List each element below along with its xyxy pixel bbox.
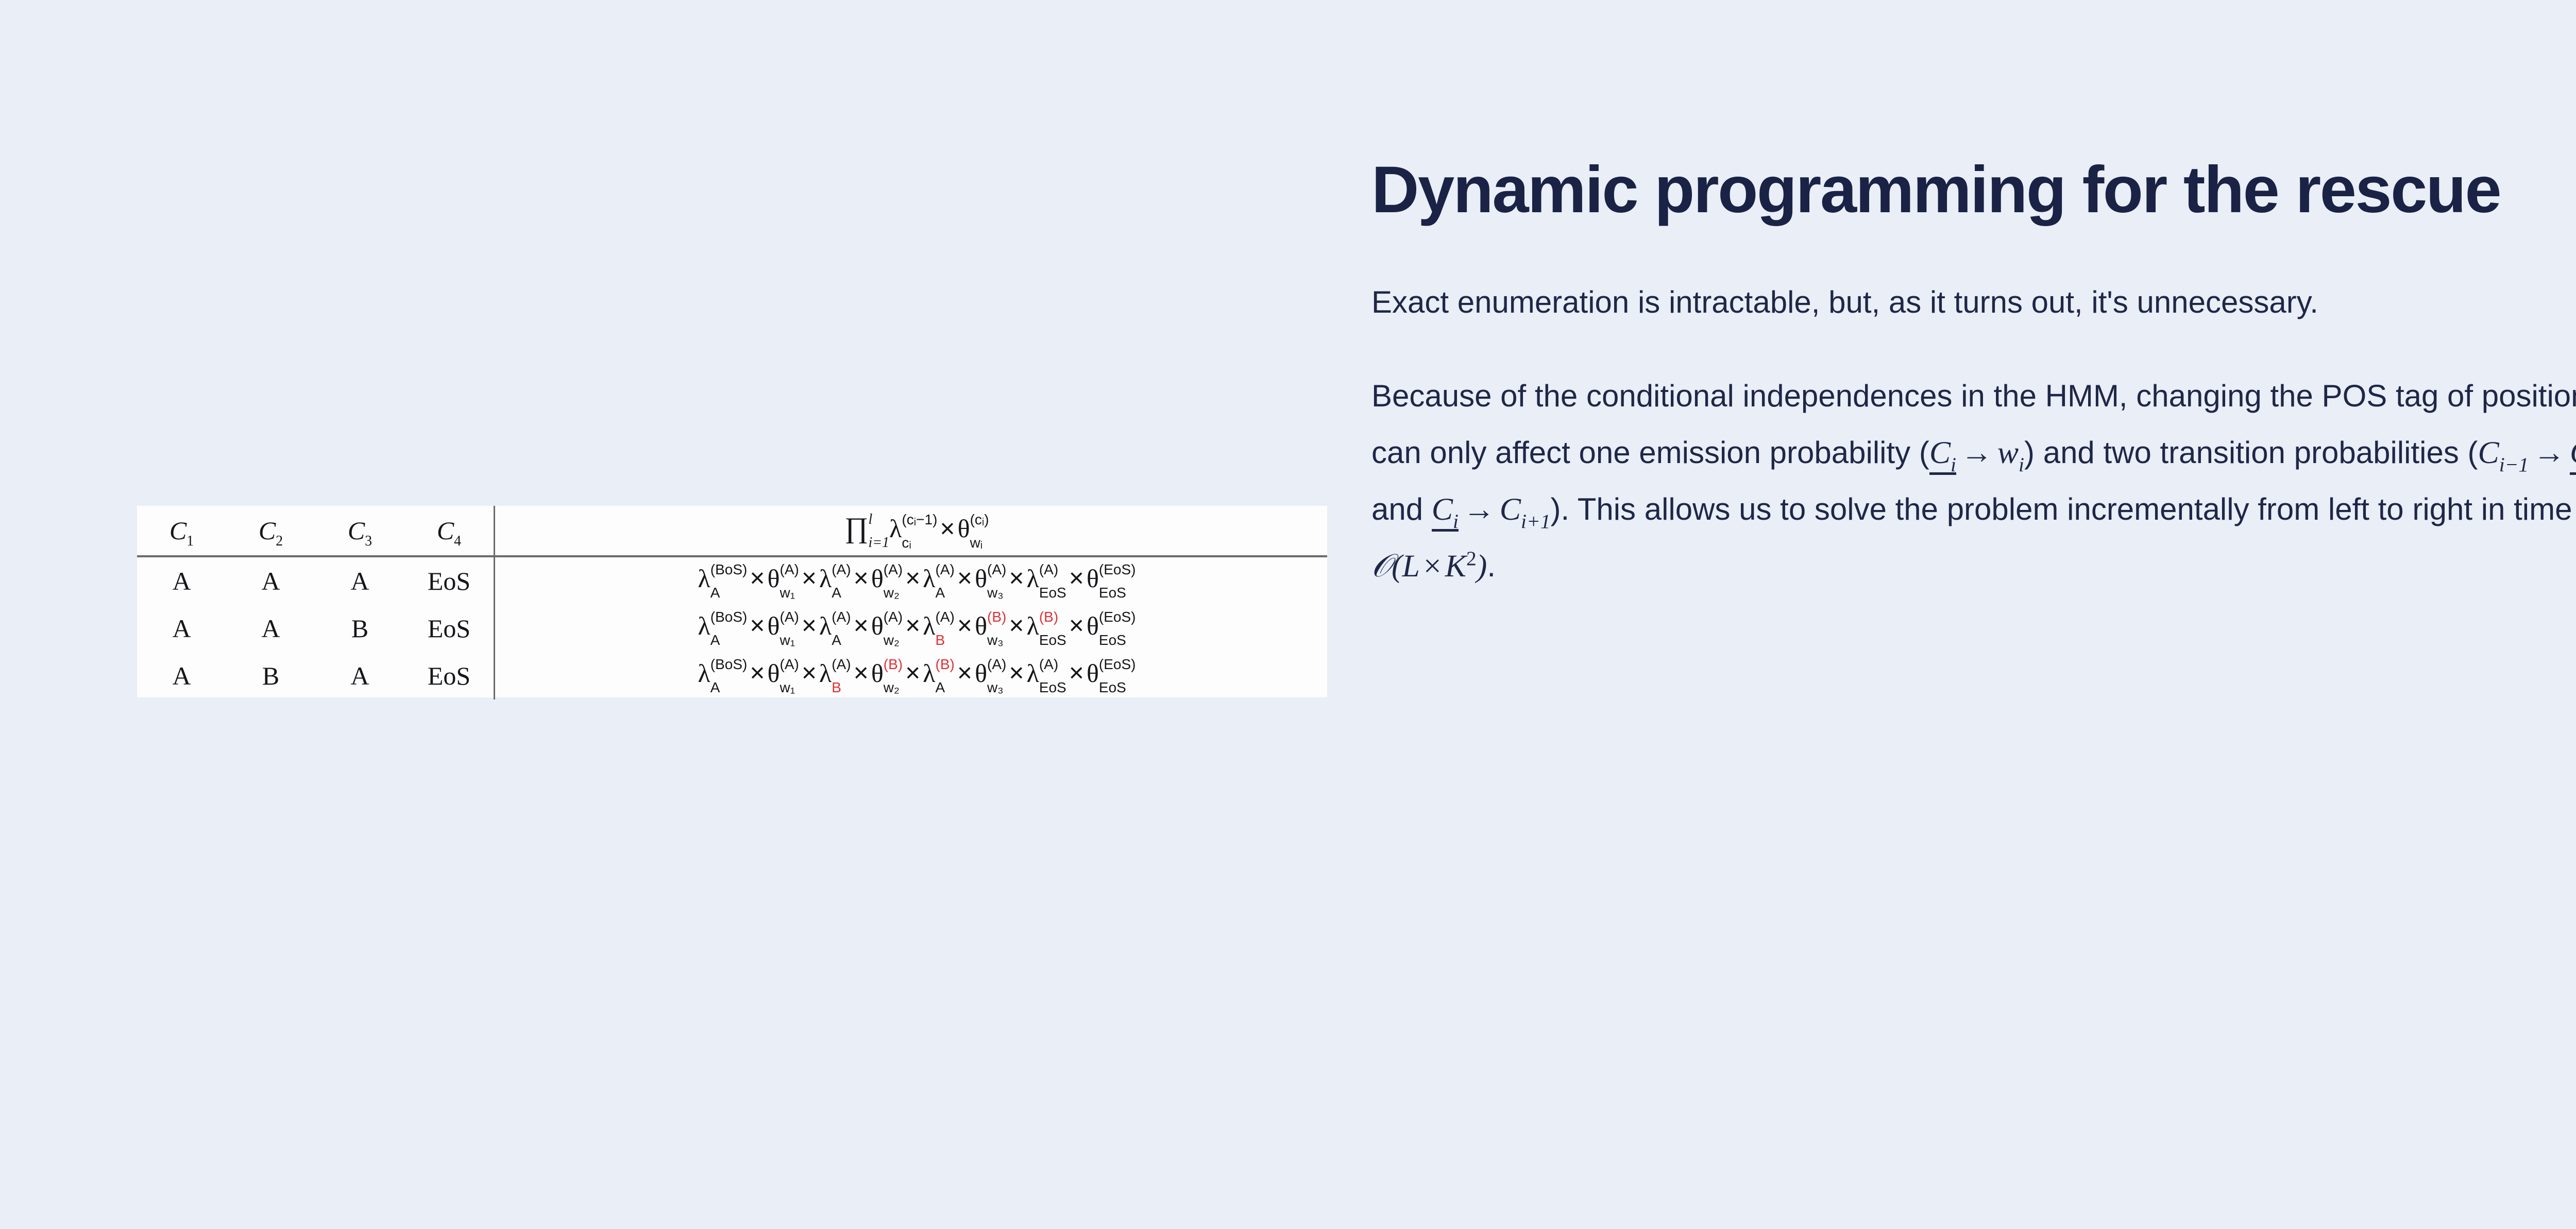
product-lower-limit: i=1 bbox=[868, 536, 889, 550]
tag-cell-r2-c2: A bbox=[226, 605, 315, 652]
column-header-c4: C4 bbox=[404, 506, 494, 556]
row1-factor2: θ(A)w₁ bbox=[768, 562, 799, 600]
math-emission-pair: Ci→wi bbox=[1929, 435, 2024, 475]
header-lambda-symbol: λ bbox=[889, 514, 902, 543]
explanation-part-3: ) and two transition probabilities ( bbox=[2024, 435, 2478, 470]
explanation-part-2: can only affect one emission probability… bbox=[1371, 435, 1929, 470]
row2-factor4-subscript: w₂ bbox=[884, 633, 903, 647]
header-theta: θ(cᵢ)wᵢ bbox=[958, 513, 989, 550]
row3-factor8-superscript: (EoS) bbox=[1099, 657, 1136, 672]
times-icon: × bbox=[799, 611, 819, 640]
row3-factor2-indices: (A)w₁ bbox=[780, 657, 799, 695]
times-icon: × bbox=[799, 658, 819, 687]
row2-factor5-symbol: λ bbox=[923, 611, 935, 640]
product-symbol: ∏ bbox=[844, 512, 868, 544]
math-transition-pair-1: Ci−1→Ci bbox=[2478, 435, 2576, 475]
tag-cell-r2-c3: B bbox=[315, 605, 404, 652]
row2-factor3-subscript: A bbox=[832, 633, 851, 647]
row3-factor8-indices: (EoS)EoS bbox=[1099, 657, 1136, 695]
row1-factor7-symbol: λ bbox=[1027, 564, 1039, 592]
math-complexity-K: K bbox=[1445, 549, 1466, 584]
row2-factor2: θ(A)w₁ bbox=[768, 610, 799, 647]
math-complexity-exponent: 2 bbox=[1466, 547, 1477, 570]
paren-open: ( bbox=[1392, 549, 1402, 584]
row1-factor6: θ(A)w₃ bbox=[975, 562, 1006, 600]
tag-cell-r3-c1: A bbox=[137, 652, 226, 699]
row1-factor5: λ(A)A bbox=[923, 562, 955, 600]
header-theta-indices: (cᵢ)wᵢ bbox=[970, 513, 989, 550]
math-trans1-to: Ci bbox=[2570, 435, 2576, 475]
arrow-icon: → bbox=[1459, 492, 1500, 527]
row3-factor5-superscript: (B) bbox=[936, 657, 955, 672]
arrow-icon: → bbox=[1956, 435, 1997, 470]
times-icon: × bbox=[955, 658, 975, 687]
row3-factor8: θ(EoS)EoS bbox=[1087, 657, 1136, 695]
row1-factor5-subscript: A bbox=[936, 586, 955, 600]
row2-factor5-indices: (A)B bbox=[936, 610, 955, 647]
row1-factor1-indices: (BoS)A bbox=[710, 562, 748, 600]
row2-factor5-superscript: (A) bbox=[936, 610, 955, 624]
row1-factor1-symbol: λ bbox=[698, 564, 710, 592]
header-theta-subscript: wᵢ bbox=[970, 536, 989, 550]
row2-factor6-indices: (B)w₃ bbox=[987, 610, 1006, 647]
times-icon: × bbox=[799, 564, 819, 592]
row1-factor2-subscript: w₁ bbox=[780, 586, 799, 600]
paren-close: ) bbox=[1477, 549, 1487, 584]
times-icon: × bbox=[903, 658, 923, 687]
column-header-formula: ∏li=1λ(cᵢ−1)cᵢ×θ(cᵢ)wᵢ bbox=[495, 506, 1327, 556]
row3-factor3-subscript: B bbox=[832, 680, 851, 695]
math-complexity: 𝒪(L×K2) bbox=[1371, 549, 1487, 584]
row2-factor1-indices: (BoS)A bbox=[710, 610, 748, 647]
row2-factor3: λ(A)A bbox=[819, 610, 851, 647]
row2-factor4-indices: (A)w₂ bbox=[884, 610, 903, 647]
row1-factor6-subscript: w₃ bbox=[987, 586, 1006, 600]
row2-factor8: θ(EoS)EoS bbox=[1087, 610, 1136, 647]
row1-factor2-superscript: (A) bbox=[780, 562, 799, 577]
row3-factor7-superscript: (A) bbox=[1039, 657, 1066, 672]
hmm-enumeration-table: C1C2C3C4∏li=1λ(cᵢ−1)cᵢ×θ(cᵢ)wᵢAAAEoSλ(Bo… bbox=[137, 506, 1327, 699]
row3-factor5: λ(B)A bbox=[923, 657, 955, 695]
column-header-c1: C1 bbox=[137, 506, 226, 556]
header-lambda-subscript: cᵢ bbox=[902, 536, 937, 550]
row2-factor8-superscript: (EoS) bbox=[1099, 610, 1136, 624]
row1-factor6-indices: (A)w₃ bbox=[987, 562, 1006, 600]
row2-factor1-superscript: (BoS) bbox=[710, 610, 748, 624]
header-theta-superscript: (cᵢ) bbox=[970, 513, 989, 527]
row1-factor5-symbol: λ bbox=[923, 564, 935, 592]
row3-factor3-indices: (A)B bbox=[832, 657, 851, 695]
row1-factor6-superscript: (A) bbox=[987, 562, 1006, 577]
row1-factor4-superscript: (A) bbox=[884, 562, 903, 577]
row3-factor4: θ(B)w₂ bbox=[871, 657, 903, 695]
row2-factor5: λ(A)B bbox=[923, 610, 955, 647]
row3-factor1-superscript: (BoS) bbox=[710, 657, 748, 672]
row2-factor7: λ(B)EoS bbox=[1027, 610, 1066, 647]
row3-factor1-indices: (BoS)A bbox=[710, 657, 748, 695]
row3-factor5-symbol: λ bbox=[923, 658, 935, 687]
row2-factor6: θ(B)w₃ bbox=[975, 610, 1006, 647]
times-icon: × bbox=[903, 611, 923, 640]
math-trans1-from: Ci−1 bbox=[2478, 435, 2529, 470]
times-icon: × bbox=[1420, 549, 1445, 584]
row3-factor3-superscript: (A) bbox=[832, 657, 851, 672]
times-icon: × bbox=[1006, 611, 1026, 640]
row2-factor4-symbol: θ bbox=[871, 611, 884, 640]
big-o-symbol: 𝒪 bbox=[1371, 549, 1392, 584]
times-icon: × bbox=[903, 564, 923, 592]
slide-root: C1C2C3C4∏li=1λ(cᵢ−1)cᵢ×θ(cᵢ)wᵢAAAEoSλ(Bo… bbox=[0, 0, 2576, 1229]
slide-text-column: Dynamic programming for the rescue Exact… bbox=[1371, 155, 2576, 595]
row3-factor7-symbol: λ bbox=[1027, 658, 1039, 687]
tag-cell-r3-c3: A bbox=[315, 652, 404, 699]
row2-factor3-indices: (A)A bbox=[832, 610, 851, 647]
row3-factor5-indices: (B)A bbox=[936, 657, 955, 695]
row3-factor6: θ(A)w₃ bbox=[975, 657, 1006, 695]
row3-factor4-symbol: θ bbox=[871, 658, 884, 687]
times-icon: × bbox=[1066, 611, 1087, 640]
row2-factor4-superscript: (A) bbox=[884, 610, 903, 624]
times-icon: × bbox=[1006, 564, 1026, 592]
times-icon: × bbox=[747, 658, 767, 687]
row2-factor2-subscript: w₁ bbox=[780, 633, 799, 647]
math-emission-to: wi bbox=[1997, 435, 2024, 470]
row1-factor2-indices: (A)w₁ bbox=[780, 562, 799, 600]
row3-factor1: λ(BoS)A bbox=[698, 657, 748, 695]
row2-factor2-symbol: θ bbox=[768, 611, 780, 640]
row1-factor7: λ(A)EoS bbox=[1027, 562, 1066, 600]
row3-factor6-indices: (A)w₃ bbox=[987, 657, 1006, 695]
row3-factor7: λ(A)EoS bbox=[1027, 657, 1066, 695]
header-lambda-indices: (cᵢ−1)cᵢ bbox=[902, 513, 937, 550]
row1-factor4-symbol: θ bbox=[871, 564, 884, 592]
row3-factor2-superscript: (A) bbox=[780, 657, 799, 672]
math-trans2-to: Ci+1 bbox=[1500, 492, 1551, 527]
product-operator: ∏li=1 bbox=[844, 511, 889, 550]
row3-factor1-symbol: λ bbox=[698, 658, 710, 687]
row3-factor8-subscript: EoS bbox=[1099, 680, 1136, 695]
tag-cell-r1-c4: EoS bbox=[404, 556, 494, 605]
times-icon: × bbox=[955, 611, 975, 640]
row3-factor7-indices: (A)EoS bbox=[1039, 657, 1066, 695]
row1-factor7-indices: (A)EoS bbox=[1039, 562, 1066, 600]
table-row: ABAEoSλ(BoS)A×θ(A)w₁×λ(A)B×θ(B)w₂×λ(B)A×… bbox=[137, 652, 1327, 699]
row1-factor4: θ(A)w₂ bbox=[871, 562, 903, 600]
row3-factor2-symbol: θ bbox=[768, 658, 780, 687]
row3-factor1-subscript: A bbox=[710, 680, 748, 695]
times-icon: × bbox=[1066, 564, 1087, 592]
row2-factor3-superscript: (A) bbox=[832, 610, 851, 624]
times-icon: × bbox=[1006, 658, 1026, 687]
row2-factor7-superscript: (B) bbox=[1039, 610, 1066, 624]
row1-factor3-superscript: (A) bbox=[832, 562, 851, 577]
row1-factor5-superscript: (A) bbox=[936, 562, 955, 577]
row1-factor7-subscript: EoS bbox=[1039, 586, 1066, 600]
times-icon: × bbox=[851, 611, 871, 640]
row3-factor5-subscript: A bbox=[936, 680, 955, 695]
table-header-row: C1C2C3C4∏li=1λ(cᵢ−1)cᵢ×θ(cᵢ)wᵢ bbox=[137, 506, 1327, 556]
times-icon: × bbox=[937, 514, 957, 543]
arrow-icon: → bbox=[2529, 435, 2570, 470]
paragraph-intro-text: Exact enumeration is intractable, but, a… bbox=[1371, 285, 2318, 319]
row1-factor3-symbol: λ bbox=[819, 564, 832, 592]
tag-cell-r2-c1: A bbox=[137, 605, 226, 652]
row2-factor7-symbol: λ bbox=[1027, 611, 1039, 640]
row3-factor2: θ(A)w₁ bbox=[768, 657, 799, 695]
row1-factor6-symbol: θ bbox=[975, 564, 987, 592]
row2-factor7-subscript: EoS bbox=[1039, 633, 1066, 647]
row2-factor6-symbol: θ bbox=[975, 611, 987, 640]
formula-cell-row-2: λ(BoS)A×θ(A)w₁×λ(A)A×θ(A)w₂×λ(A)B×θ(B)w₃… bbox=[495, 605, 1327, 652]
row3-factor4-indices: (B)w₂ bbox=[884, 657, 903, 695]
explanation-part-1: Because of the conditional independences… bbox=[1371, 379, 2576, 413]
row2-factor1: λ(BoS)A bbox=[698, 610, 748, 647]
header-lambda-superscript: (cᵢ−1) bbox=[902, 513, 937, 527]
math-emission-from: Ci bbox=[1929, 435, 1956, 475]
tag-cell-r2-c4: EoS bbox=[404, 605, 494, 652]
tag-cell-r3-c2: B bbox=[226, 652, 315, 699]
column-header-c2: C2 bbox=[226, 506, 315, 556]
tag-cell-r1-c1: A bbox=[137, 556, 226, 605]
times-icon: × bbox=[851, 564, 871, 592]
row2-factor2-indices: (A)w₁ bbox=[780, 610, 799, 647]
row3-factor4-subscript: w₂ bbox=[884, 680, 903, 695]
row2-factor4: θ(A)w₂ bbox=[871, 610, 903, 647]
row2-factor3-symbol: λ bbox=[819, 611, 832, 640]
row2-factor5-subscript: B bbox=[936, 633, 955, 647]
row1-factor8: θ(EoS)EoS bbox=[1087, 562, 1136, 600]
row1-factor1: λ(BoS)A bbox=[698, 562, 748, 600]
product-upper-limit: l bbox=[868, 513, 889, 527]
table-row: AABEoSλ(BoS)A×θ(A)w₁×λ(A)A×θ(A)w₂×λ(A)B×… bbox=[137, 605, 1327, 652]
row1-factor1-subscript: A bbox=[710, 586, 748, 600]
math-transition-pair-2: Ci→Ci+1 bbox=[1432, 492, 1551, 532]
row3-factor6-symbol: θ bbox=[975, 658, 987, 687]
row1-factor7-superscript: (A) bbox=[1039, 562, 1066, 577]
row2-factor7-indices: (B)EoS bbox=[1039, 610, 1066, 647]
times-icon: × bbox=[955, 564, 975, 592]
explanation-conjunction: and bbox=[1371, 492, 1432, 526]
row2-factor6-subscript: w₃ bbox=[987, 633, 1006, 647]
paragraph-explanation: Because of the conditional independences… bbox=[1371, 368, 2576, 595]
row3-factor3-symbol: λ bbox=[819, 658, 832, 687]
math-trans2-from: Ci bbox=[1432, 492, 1459, 532]
times-icon: × bbox=[747, 611, 767, 640]
row1-factor3-subscript: A bbox=[832, 586, 851, 600]
tag-cell-r3-c4: EoS bbox=[404, 652, 494, 699]
tag-cell-r1-c3: A bbox=[315, 556, 404, 605]
row2-factor8-indices: (EoS)EoS bbox=[1099, 610, 1136, 647]
header-lambda: λ(cᵢ−1)cᵢ bbox=[889, 513, 937, 550]
product-limits: li=1 bbox=[868, 513, 889, 550]
math-complexity-L: L bbox=[1402, 549, 1420, 584]
row3-factor3: λ(A)B bbox=[819, 657, 851, 695]
explanation-period: . bbox=[1487, 549, 1496, 583]
tag-cell-r1-c2: A bbox=[226, 556, 315, 605]
times-icon: × bbox=[1066, 658, 1087, 687]
row1-factor5-indices: (A)A bbox=[936, 562, 955, 600]
row1-factor4-indices: (A)w₂ bbox=[884, 562, 903, 600]
column-header-c3: C3 bbox=[315, 506, 404, 556]
times-icon: × bbox=[851, 658, 871, 687]
row3-factor8-symbol: θ bbox=[1087, 658, 1099, 687]
times-icon: × bbox=[747, 564, 767, 592]
row1-factor8-symbol: θ bbox=[1087, 564, 1099, 592]
row1-factor4-subscript: w₂ bbox=[884, 586, 903, 600]
row1-factor3-indices: (A)A bbox=[832, 562, 851, 600]
explanation-part-4: ). This allows us to solve the problem i… bbox=[1550, 492, 2572, 526]
row1-factor3: λ(A)A bbox=[819, 562, 851, 600]
table-row: AAAEoSλ(BoS)A×θ(A)w₁×λ(A)A×θ(A)w₂×λ(A)A×… bbox=[137, 556, 1327, 605]
row2-factor2-superscript: (A) bbox=[780, 610, 799, 624]
row2-factor1-subscript: A bbox=[710, 633, 748, 647]
row3-factor6-superscript: (A) bbox=[987, 657, 1006, 672]
row3-factor7-subscript: EoS bbox=[1039, 680, 1066, 695]
row3-factor6-subscript: w₃ bbox=[987, 680, 1006, 695]
header-theta-symbol: θ bbox=[958, 514, 970, 543]
row2-factor1-symbol: λ bbox=[698, 611, 710, 640]
row2-factor6-superscript: (B) bbox=[987, 610, 1006, 624]
page-title: Dynamic programming for the rescue bbox=[1371, 155, 2576, 226]
row3-factor4-superscript: (B) bbox=[884, 657, 903, 672]
paragraph-intro: Exact enumeration is intractable, but, a… bbox=[1371, 275, 2576, 330]
formula-cell-row-1: λ(BoS)A×θ(A)w₁×λ(A)A×θ(A)w₂×λ(A)A×θ(A)w₃… bbox=[495, 556, 1327, 605]
formula-cell-row-3: λ(BoS)A×θ(A)w₁×λ(A)B×θ(B)w₂×λ(B)A×θ(A)w₃… bbox=[495, 652, 1327, 699]
row2-factor8-symbol: θ bbox=[1087, 611, 1099, 640]
row1-factor1-superscript: (BoS) bbox=[710, 562, 748, 577]
row1-factor8-subscript: EoS bbox=[1099, 586, 1136, 600]
row1-factor8-indices: (EoS)EoS bbox=[1099, 562, 1136, 600]
row1-factor8-superscript: (EoS) bbox=[1099, 562, 1136, 577]
row1-factor2-symbol: θ bbox=[768, 564, 780, 592]
hmm-enumeration-figure: C1C2C3C4∏li=1λ(cᵢ−1)cᵢ×θ(cᵢ)wᵢAAAEoSλ(Bo… bbox=[137, 506, 1327, 697]
row2-factor8-subscript: EoS bbox=[1099, 633, 1136, 647]
row3-factor2-subscript: w₁ bbox=[780, 680, 799, 695]
